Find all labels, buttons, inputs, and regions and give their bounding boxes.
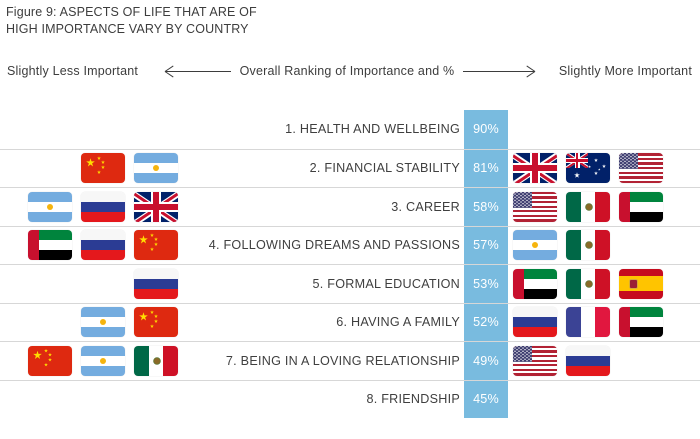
more-important-flags <box>513 110 700 149</box>
flag-france-icon <box>566 307 610 337</box>
flag-argentina-icon <box>81 307 125 337</box>
axis-header: Slightly Less Important Overall Ranking … <box>0 58 700 84</box>
more-important-flags <box>513 381 700 419</box>
arrow-right-icon <box>463 66 535 76</box>
flag-australia-icon <box>566 153 610 183</box>
aspect-label: 2. FINANCIAL STABILITY <box>182 150 460 188</box>
table-row: 7. BEING IN A LOVING RELATIONSHIP 49% <box>0 341 700 380</box>
less-important-flags <box>0 381 178 419</box>
more-important-flags <box>513 227 700 265</box>
flag-mexico-icon <box>134 346 178 376</box>
flag-china-icon <box>134 307 178 337</box>
page-title: Figure 9: ASPECTS OF LIFE THAT ARE OF HI… <box>6 4 526 37</box>
table-row: 1. HEALTH AND WELLBEING 90% <box>0 110 700 149</box>
percent-value: 57% <box>464 227 508 265</box>
flag-russia-icon <box>81 230 125 260</box>
flag-uae-icon <box>619 192 663 222</box>
flag-argentina-icon <box>28 192 72 222</box>
more-important-flags <box>513 342 700 380</box>
flag-united-states-icon <box>619 153 663 183</box>
flag-spain-icon <box>619 269 663 299</box>
aspect-label: 1. HEALTH AND WELLBEING <box>182 110 460 149</box>
percent-value: 52% <box>464 304 508 342</box>
more-important-flags <box>513 304 700 342</box>
flag-mexico-icon <box>566 192 610 222</box>
flag-russia-icon <box>134 269 178 299</box>
less-important-flags <box>0 188 178 226</box>
flag-uae-icon <box>513 269 557 299</box>
aspect-label: 4. FOLLOWING DREAMS AND PASSIONS <box>182 227 460 265</box>
flag-united-kingdom-icon <box>513 153 557 183</box>
less-important-flags <box>0 150 178 188</box>
axis-left-label: Slightly Less Important <box>7 64 138 78</box>
ranking-table: 1. HEALTH AND WELLBEING 90% 2. FINANCIAL… <box>0 110 700 418</box>
percent-value: 49% <box>464 342 508 380</box>
flag-china-icon <box>28 346 72 376</box>
flag-argentina-icon <box>81 346 125 376</box>
less-important-flags <box>0 110 178 149</box>
less-important-flags <box>0 342 178 380</box>
table-row: 5. FORMAL EDUCATION 53% <box>0 264 700 303</box>
flag-uae-icon <box>28 230 72 260</box>
flag-uae-icon <box>619 307 663 337</box>
more-important-flags <box>513 150 700 188</box>
percent-value: 58% <box>464 188 508 226</box>
flag-united-states-icon <box>513 346 557 376</box>
flag-russia-icon <box>566 346 610 376</box>
flag-russia-icon <box>81 192 125 222</box>
table-row: 4. FOLLOWING DREAMS AND PASSIONS 57% <box>0 226 700 265</box>
aspect-label: 6. HAVING A FAMILY <box>182 304 460 342</box>
flag-russia-icon <box>513 307 557 337</box>
flag-argentina-icon <box>513 230 557 260</box>
table-row: 6. HAVING A FAMILY 52% <box>0 303 700 342</box>
flag-united-kingdom-icon <box>134 192 178 222</box>
flag-china-icon <box>134 230 178 260</box>
flag-mexico-icon <box>566 230 610 260</box>
aspect-label: 8. FRIENDSHIP <box>182 381 460 419</box>
aspect-label: 7. BEING IN A LOVING RELATIONSHIP <box>182 342 460 380</box>
percent-value: 81% <box>464 150 508 188</box>
aspect-label: 3. CAREER <box>182 188 460 226</box>
table-row: 2. FINANCIAL STABILITY 81% <box>0 149 700 188</box>
less-important-flags <box>0 304 178 342</box>
table-row: 8. FRIENDSHIP 45% <box>0 380 700 419</box>
percent-value: 45% <box>464 381 508 419</box>
table-row: 3. CAREER 58% <box>0 187 700 226</box>
percent-value: 53% <box>464 265 508 303</box>
flag-united-states-icon <box>513 192 557 222</box>
aspect-label: 5. FORMAL EDUCATION <box>182 265 460 303</box>
percent-value: 90% <box>464 110 508 149</box>
flag-mexico-icon <box>566 269 610 299</box>
flag-argentina-icon <box>134 153 178 183</box>
more-important-flags <box>513 188 700 226</box>
less-important-flags <box>0 265 178 303</box>
axis-right-label: Slightly More Important <box>559 64 692 78</box>
more-important-flags <box>513 265 700 303</box>
less-important-flags <box>0 227 178 265</box>
arrow-left-icon <box>165 66 231 76</box>
flag-china-icon <box>81 153 125 183</box>
axis-center-label: Overall Ranking of Importance and % <box>240 64 455 78</box>
